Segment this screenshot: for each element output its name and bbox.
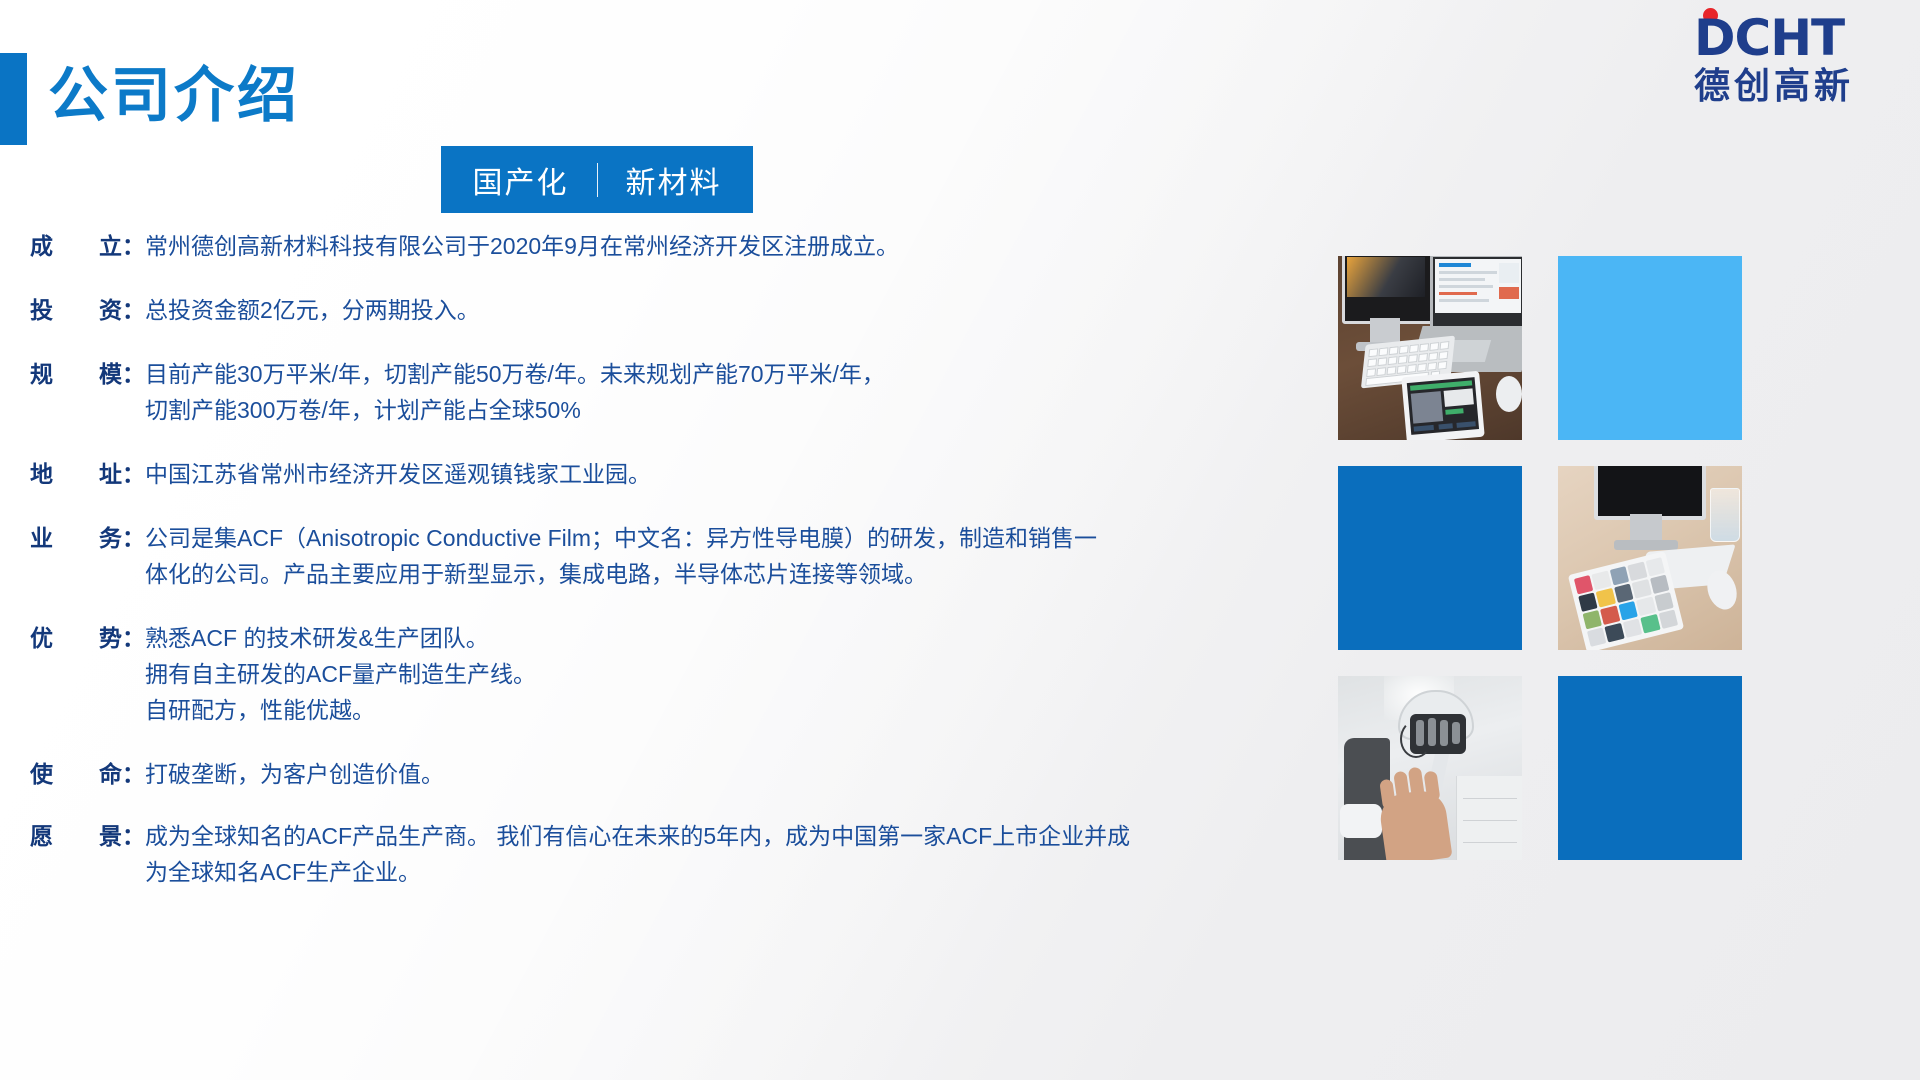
info-row-vision: 愿景 ： 成为全球知名的ACF产品生产商。 我们有信心在未来的5年内，成为中国第… xyxy=(30,818,1320,890)
app-icon-grid xyxy=(1574,557,1678,647)
imac-stand-shape xyxy=(1370,318,1400,344)
info-row-investment: 投资 ： 总投资金额2亿元，分两期投入。 xyxy=(30,292,1320,328)
info-row-colon: ： xyxy=(122,356,145,392)
tablet-shape xyxy=(1568,551,1684,650)
info-row-colon: ： xyxy=(122,456,145,492)
tablet-shape xyxy=(1401,371,1484,440)
page-title: 公司介绍 xyxy=(48,48,300,144)
info-row-label: 投资 xyxy=(30,292,122,328)
info-list: 成立 ： 常州德创高新材料科技有限公司于2020年9月在常州经济开发区注册成立。… xyxy=(30,228,1320,890)
info-row-address: 地址 ： 中国江苏省常州市经济开发区遥观镇钱家工业园。 xyxy=(30,456,1320,492)
blue-tile xyxy=(1558,676,1742,860)
info-row-scale: 规模 ： 目前产能30万平米/年，切割产能50万卷/年。未来规划产能70万平米/… xyxy=(30,356,1320,428)
info-row-colon: ： xyxy=(122,756,145,792)
info-row-body: 目前产能30万平米/年，切割产能50万卷/年。未来规划产能70万平米/年， 切割… xyxy=(145,356,1320,428)
laptop-screen-shape xyxy=(1430,256,1522,332)
title-accent-bar xyxy=(0,53,27,145)
logo-mark: DCHT xyxy=(1694,6,1890,64)
info-row-business: 业务 ： 公司是集ACF（Anisotropic Conductive Film… xyxy=(30,520,1320,592)
info-row-colon: ： xyxy=(122,292,145,328)
info-row-body: 总投资金额2亿元，分两期投入。 xyxy=(145,292,1320,328)
light-blue-tile xyxy=(1558,256,1742,440)
info-row-body: 打破垄断，为客户创造价值。 xyxy=(145,756,1320,792)
info-row-label: 使命 xyxy=(30,756,122,792)
info-row-label: 地址 xyxy=(30,456,122,492)
tag-banner-separator-icon xyxy=(597,163,598,197)
imac-stand-shape xyxy=(1630,514,1662,542)
stool-shape xyxy=(1340,804,1382,838)
logo-wordmark: DCHT xyxy=(1694,12,1890,64)
info-row-colon: ： xyxy=(122,520,145,556)
info-row-establishment: 成立 ： 常州德创高新材料科技有限公司于2020年9月在常州经济开发区注册成立。 xyxy=(30,228,1320,264)
image-grid-row xyxy=(1338,466,1742,650)
image-grid-row xyxy=(1338,256,1742,440)
image-grid xyxy=(1338,256,1742,886)
info-row-label: 业务 xyxy=(30,520,122,556)
info-row-body: 常州德创高新材料科技有限公司于2020年9月在常州经济开发区注册成立。 xyxy=(145,228,1320,264)
imac-monitor-shape xyxy=(1594,466,1706,520)
company-logo: DCHT 德创高新 xyxy=(1694,6,1890,118)
tag-banner-left-label: 国产化 xyxy=(473,158,569,202)
image-grid-row xyxy=(1338,676,1742,860)
info-row-body: 中国江苏省常州市经济开发区遥观镇钱家工业园。 xyxy=(145,456,1320,492)
desk-computers-photo xyxy=(1338,256,1522,440)
info-row-advantage: 优势 ： 熟悉ACF 的技术研发&生产团队。 拥有自主研发的ACF量产制造生产线… xyxy=(30,620,1320,728)
info-row-label: 愿景 xyxy=(30,818,122,854)
logo-chinese-name: 德创高新 xyxy=(1694,64,1890,108)
info-row-label: 规模 xyxy=(30,356,122,392)
info-row-body: 公司是集ACF（Anisotropic Conductive Film；中文名：… xyxy=(145,520,1320,592)
mouse-shape xyxy=(1496,376,1522,412)
info-row-body: 熟悉ACF 的技术研发&生产团队。 拥有自主研发的ACF量产制造生产线。 自研配… xyxy=(145,620,1320,728)
info-row-label: 成立 xyxy=(30,228,122,264)
info-row-colon: ： xyxy=(122,818,145,854)
cabinet-shape xyxy=(1456,776,1522,860)
imac-monitor-shape xyxy=(1342,256,1434,324)
slide-root: 公司介绍 DCHT 德创高新 国产化 新材料 成立 ： 常州德创高新材料科技有限… xyxy=(0,0,1920,1080)
tag-banner-right-label: 新材料 xyxy=(626,158,722,202)
info-row-colon: ： xyxy=(122,228,145,264)
info-row-body: 成为全球知名的ACF产品生产商。 我们有信心在未来的5年内，成为中国第一家ACF… xyxy=(145,818,1320,890)
imac-base-shape xyxy=(1614,540,1678,550)
tool-cord-shape xyxy=(1400,720,1432,758)
info-row-colon: ： xyxy=(122,620,145,656)
water-glass-shape xyxy=(1710,488,1740,542)
info-row-mission: 使命 ： 打破垄断，为客户创造价值。 xyxy=(30,756,1320,792)
info-row-label: 优势 xyxy=(30,620,122,656)
tag-banner: 国产化 新材料 xyxy=(441,146,753,213)
blue-tile xyxy=(1338,466,1522,650)
desk-tablet-photo xyxy=(1558,466,1742,650)
hand-shape xyxy=(1377,788,1452,860)
dental-equipment-photo xyxy=(1338,676,1522,860)
